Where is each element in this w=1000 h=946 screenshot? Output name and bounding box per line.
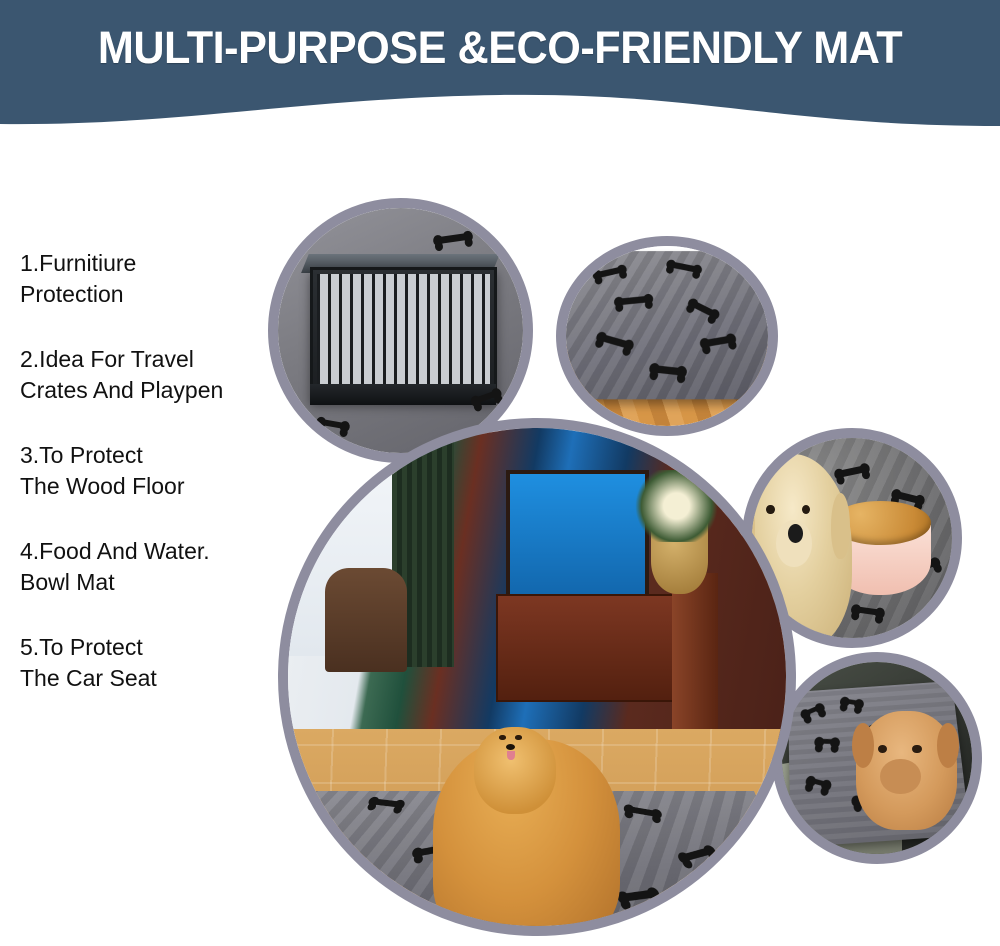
header-banner: MULTI-PURPOSE &ECO-FRIENDLY MAT xyxy=(0,0,1000,130)
bone-print xyxy=(623,889,655,901)
living-room-scene xyxy=(278,418,796,936)
bone-print xyxy=(367,935,401,936)
dog-eye-right xyxy=(515,735,522,739)
puppy-snout xyxy=(880,759,920,795)
bone-print xyxy=(682,847,712,861)
dog-ear-right xyxy=(831,493,850,559)
bone-print xyxy=(691,301,715,318)
page-title: MULTI-PURPOSE &ECO-FRIENDLY MAT xyxy=(20,22,980,74)
bone-print xyxy=(619,295,649,304)
bone-print xyxy=(279,804,308,814)
bone-print xyxy=(804,705,820,715)
feature-item-food-water-bowl: 4.Food And Water. Bowl Mat xyxy=(20,536,290,598)
puppy-ear-left xyxy=(852,723,874,768)
tv-cabinet xyxy=(496,594,686,702)
column-pedestal xyxy=(672,573,719,728)
feature-item-wood-floor: 3.To Protect The Wood Floor xyxy=(20,440,290,502)
bone-print xyxy=(596,267,622,279)
bone-print xyxy=(819,739,835,744)
feature-item-furniture-protection: 1.Furnitiure Protection xyxy=(20,248,290,310)
bone-print xyxy=(600,334,629,349)
bone-print xyxy=(373,798,401,807)
bone-print xyxy=(810,778,827,787)
dog-head xyxy=(474,727,556,814)
bone-print xyxy=(654,365,682,375)
armchair xyxy=(325,568,408,672)
bone-print xyxy=(704,336,731,348)
dog-nose xyxy=(506,744,515,750)
feature-item-car-seat: 5.To Protect The Car Seat xyxy=(20,632,290,694)
crate-base-tray xyxy=(310,384,496,405)
flower-arrangement xyxy=(630,470,723,543)
wood-floor-scene xyxy=(556,236,778,436)
puppy-ear-right xyxy=(937,723,959,768)
crate-bars xyxy=(317,274,489,393)
television xyxy=(506,470,649,613)
dog-tongue xyxy=(507,751,514,760)
puppy xyxy=(856,711,957,830)
bone-print xyxy=(856,607,881,616)
dog-eye-left xyxy=(499,735,506,739)
puppy-eye-right xyxy=(912,745,921,753)
bone-print xyxy=(670,262,697,273)
dog-eye-right xyxy=(802,505,810,515)
bone-print xyxy=(306,886,339,896)
bone-print xyxy=(844,698,859,705)
photo-circle-car-seat xyxy=(772,652,982,864)
dog-paw-left xyxy=(456,930,484,936)
bone-print xyxy=(629,806,657,817)
dog-paw-right xyxy=(515,930,543,936)
feature-item-travel-crates: 2.Idea For Travel Crates And Playpen xyxy=(20,344,290,406)
living-room-dog xyxy=(433,739,619,936)
puppy-eye-left xyxy=(878,745,887,753)
car-seat-scene xyxy=(772,652,982,864)
feature-list: 1.Furnitiure Protection 2.Idea For Trave… xyxy=(20,248,290,694)
mat-on-wood xyxy=(557,251,777,399)
bone-print xyxy=(838,465,865,477)
crate-cage xyxy=(310,267,496,400)
photo-circle-living-room xyxy=(278,418,796,936)
bone-print xyxy=(288,838,318,851)
photo-circle-wood-floor xyxy=(556,236,778,436)
